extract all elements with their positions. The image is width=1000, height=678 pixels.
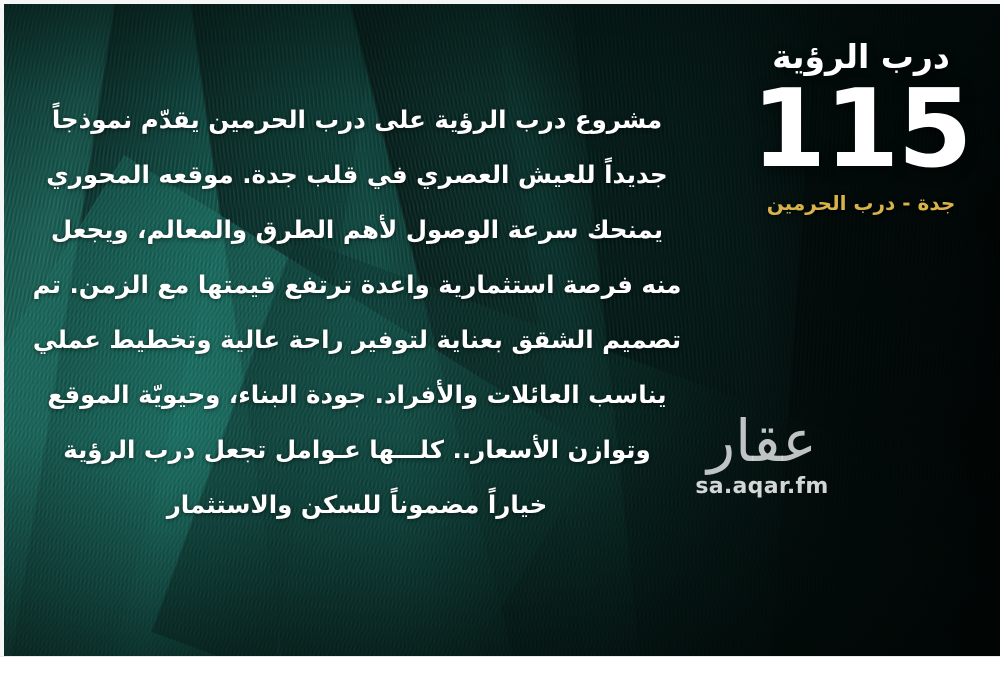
project-location: جدة - درب الحرمين bbox=[746, 191, 976, 215]
photo-frame: مشروع درب الرؤية على درب الحرمين يقدّم ن… bbox=[0, 0, 1000, 656]
project-number: 115 bbox=[746, 78, 976, 183]
promotional-image: مشروع درب الرؤية على درب الحرمين يقدّم ن… bbox=[4, 4, 1000, 656]
project-description-text: مشروع درب الرؤية على درب الحرمين يقدّم ن… bbox=[32, 92, 682, 532]
project-badge: درب الرؤية 115 جدة - درب الحرمين bbox=[746, 38, 976, 215]
bottom-white-bar bbox=[0, 656, 1000, 678]
screenshot-root: مشروع درب الرؤية على درب الحرمين يقدّم ن… bbox=[0, 0, 1000, 678]
